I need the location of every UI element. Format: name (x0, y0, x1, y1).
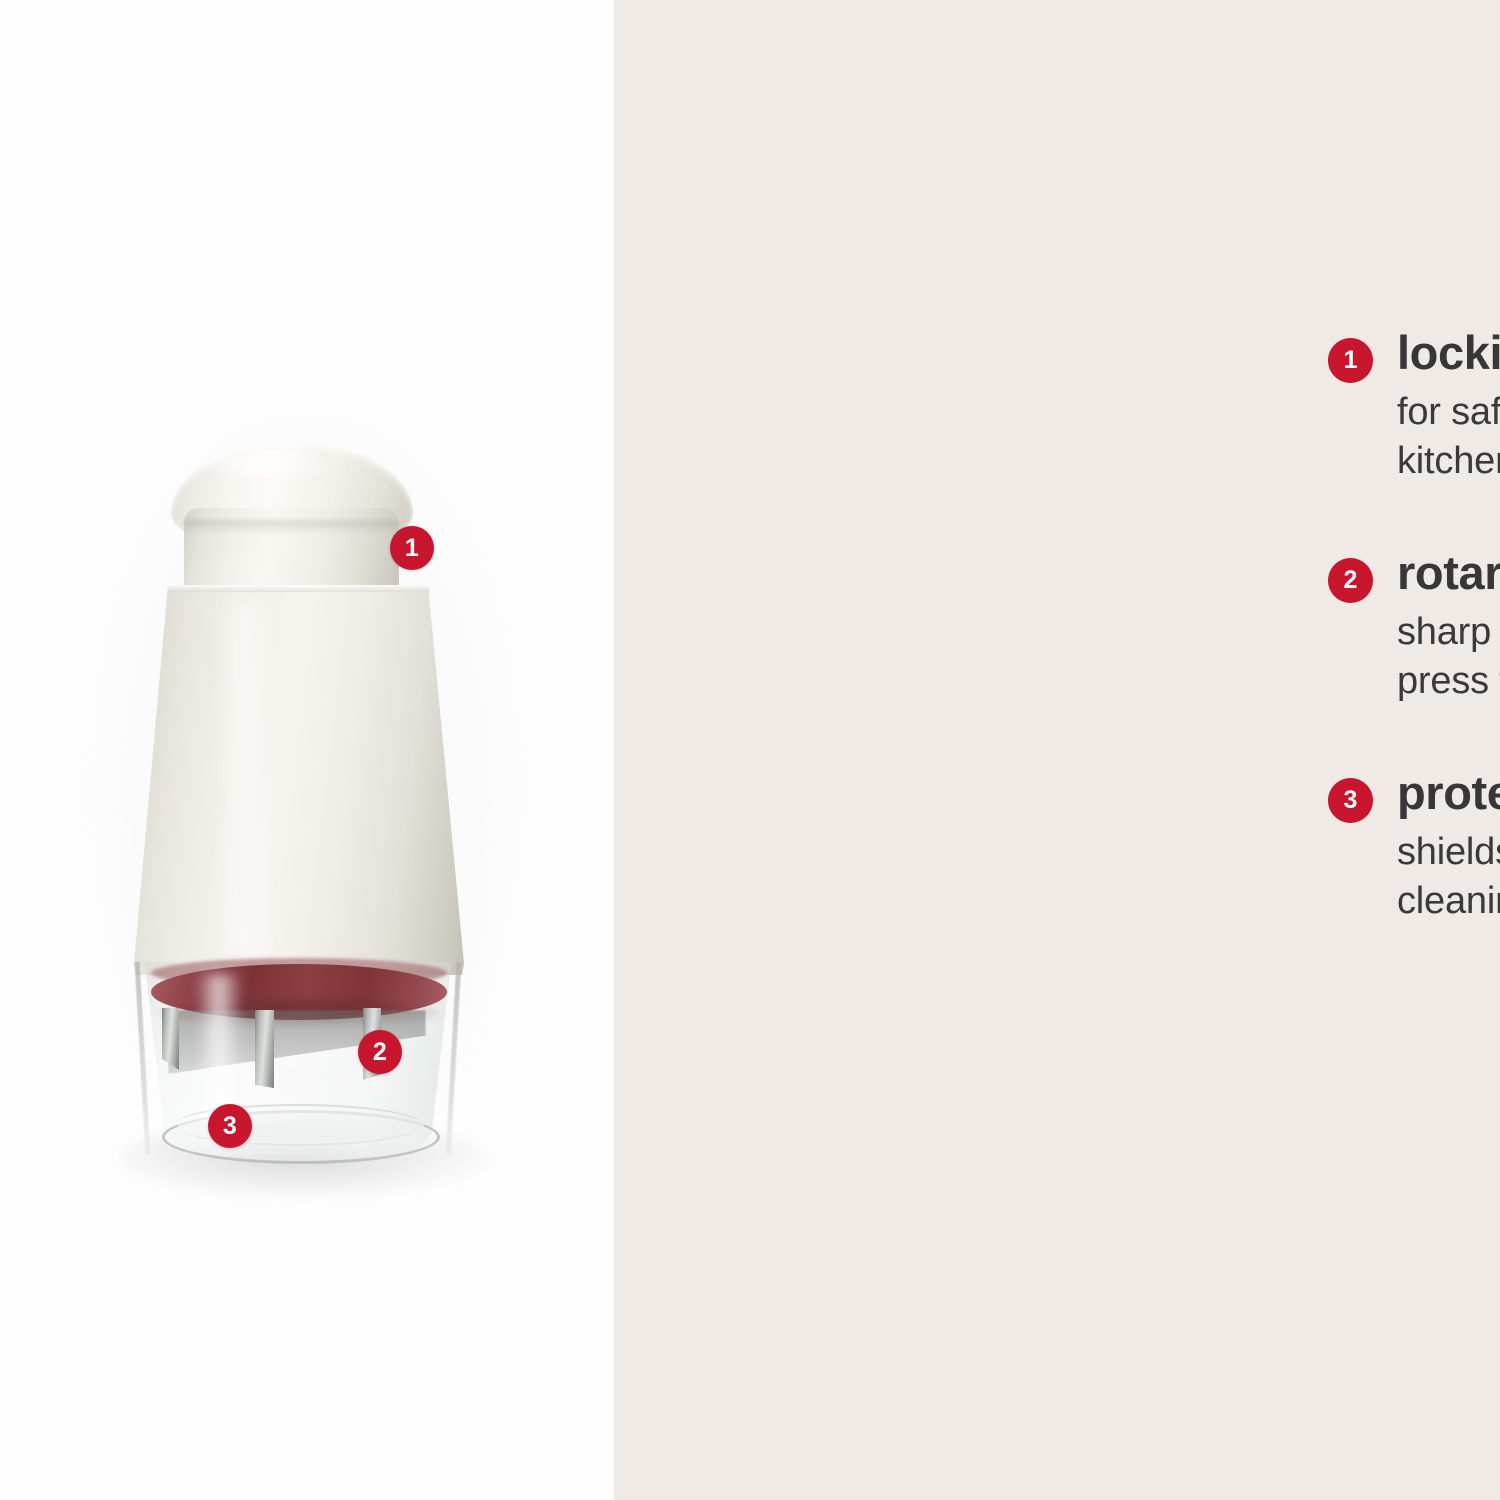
feature-item-rotary-blades: 2 rotary stainless steel blades sharp cu… (1328, 545, 1500, 705)
feature-description-2: sharp cutting edge rotates with each pre… (1397, 608, 1500, 705)
plunger-cap-highlight (196, 451, 336, 477)
feature-item-blade-cover: 3 protective blade cover shields fingers… (1328, 765, 1500, 925)
infographic-canvas: 1 2 3 1 locking handle mechanism for saf… (0, 0, 1500, 1500)
feature-description-1: for safe and compact storage in kitchen … (1397, 388, 1500, 485)
feature-item-locking-handle: 1 locking handle mechanism for safe and … (1328, 325, 1500, 485)
feature-description-3: shields fingers during use, removes for … (1397, 828, 1500, 925)
feature-badge-1: 1 (1328, 338, 1373, 383)
feature-text-panel: 1 locking handle mechanism for safe and … (614, 0, 1500, 1500)
feature-title-3: protective blade cover (1397, 765, 1500, 820)
product-callout-2: 2 (358, 1030, 402, 1074)
plunger-cap-rim-shadow (184, 520, 399, 534)
feature-list: 1 locking handle mechanism for safe and … (1328, 325, 1500, 925)
product-image-panel: 1 2 3 (0, 0, 614, 1500)
chopper-body (134, 585, 464, 975)
feature-title-1: locking handle mechanism (1397, 325, 1500, 380)
product-callout-1: 1 (390, 526, 434, 570)
chopper-body-highlight (214, 598, 276, 958)
feature-title-2: rotary stainless steel blades (1397, 545, 1500, 600)
chopper-body-seam (168, 585, 430, 592)
product-illustration: 1 2 3 (0, 0, 614, 1500)
feature-badge-2: 2 (1328, 558, 1373, 603)
product-callout-3: 3 (208, 1104, 252, 1148)
feature-badge-3: 3 (1328, 778, 1373, 823)
steel-blade-center (255, 1010, 274, 1088)
